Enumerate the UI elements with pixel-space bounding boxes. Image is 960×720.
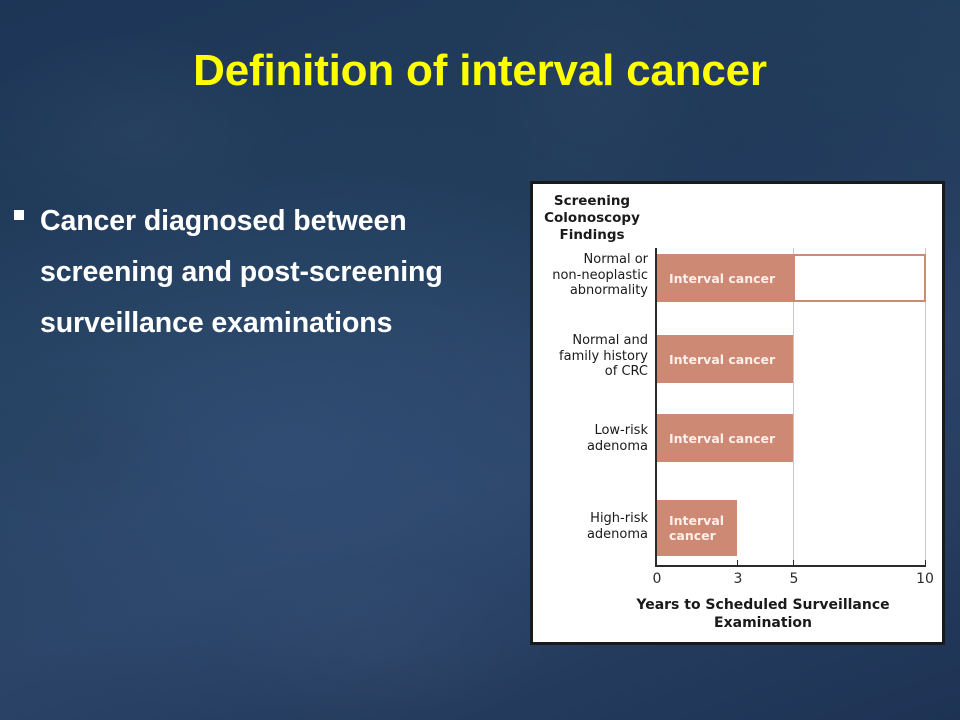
chart-bar-3: Interval cancer [657,414,793,462]
category-label-2-line-2: family history [536,349,648,365]
category-label-4-line-2: adenoma [536,527,648,543]
chart-tick-label-3: 3 [734,571,743,587]
page-title: Definition of interval cancer [0,46,960,96]
bullet-list: Cancer diagnosed between screening and p… [14,196,526,349]
chart-bar-1-outline-extension [793,254,926,302]
chart-category-label-1: Normal or non-neoplastic abnormality [536,252,648,299]
chart-tick-mark-10 [925,560,926,567]
slide-canvas: Definition of interval cancer Cancer dia… [0,0,960,720]
chart-tick-label-10: 10 [916,571,934,587]
bullet-item-text: Cancer diagnosed between screening and p… [40,196,526,349]
chart-tick-label-0: 0 [653,571,662,587]
chart-tick-mark-0 [656,560,657,567]
axis-title-line-1: Years to Scheduled Surveillance [593,596,933,614]
category-label-1-line-3: abnormality [536,283,648,299]
chart-bar-2: Interval cancer [657,335,793,383]
chart-tick-mark-5 [793,560,794,567]
chart-bar-1-label: Interval cancer [657,271,775,286]
figure-panel: Screening Colonoscopy Findings 0 3 5 10 … [530,181,945,645]
chart-category-label-3: Low-risk adenoma [536,423,648,454]
list-item: Cancer diagnosed between screening and p… [14,196,526,349]
category-label-4-line-1: High-risk [536,511,648,527]
chart-bar-1: Interval cancer [657,254,793,302]
category-label-1-line-2: non-neoplastic [536,268,648,284]
chart-tick-label-5: 5 [790,571,799,587]
category-label-3-line-2: adenoma [536,439,648,455]
chart-bar-4-label: Interval cancer [657,513,724,543]
axis-title-line-2: Examination [593,614,933,632]
chart-x-axis-title: Years to Scheduled Surveillance Examinat… [593,596,933,632]
chart-bar-2-label: Interval cancer [657,352,775,367]
category-label-3-line-1: Low-risk [536,423,648,439]
category-label-2-line-1: Normal and [536,333,648,349]
chart-bar-4: Interval cancer [657,500,737,556]
category-label-1-line-1: Normal or [536,252,648,268]
square-bullet-icon [14,210,24,220]
chart-category-label-4: High-risk adenoma [536,511,648,542]
chart-tick-mark-3 [737,560,738,567]
chart-bar-3-label: Interval cancer [657,431,775,446]
chart-x-axis-line [655,565,925,567]
category-label-2-line-3: of CRC [536,364,648,380]
chart-category-label-2: Normal and family history of CRC [536,333,648,380]
chart-plot-area: 0 3 5 10 Normal or non-neoplastic abnorm… [533,184,942,642]
